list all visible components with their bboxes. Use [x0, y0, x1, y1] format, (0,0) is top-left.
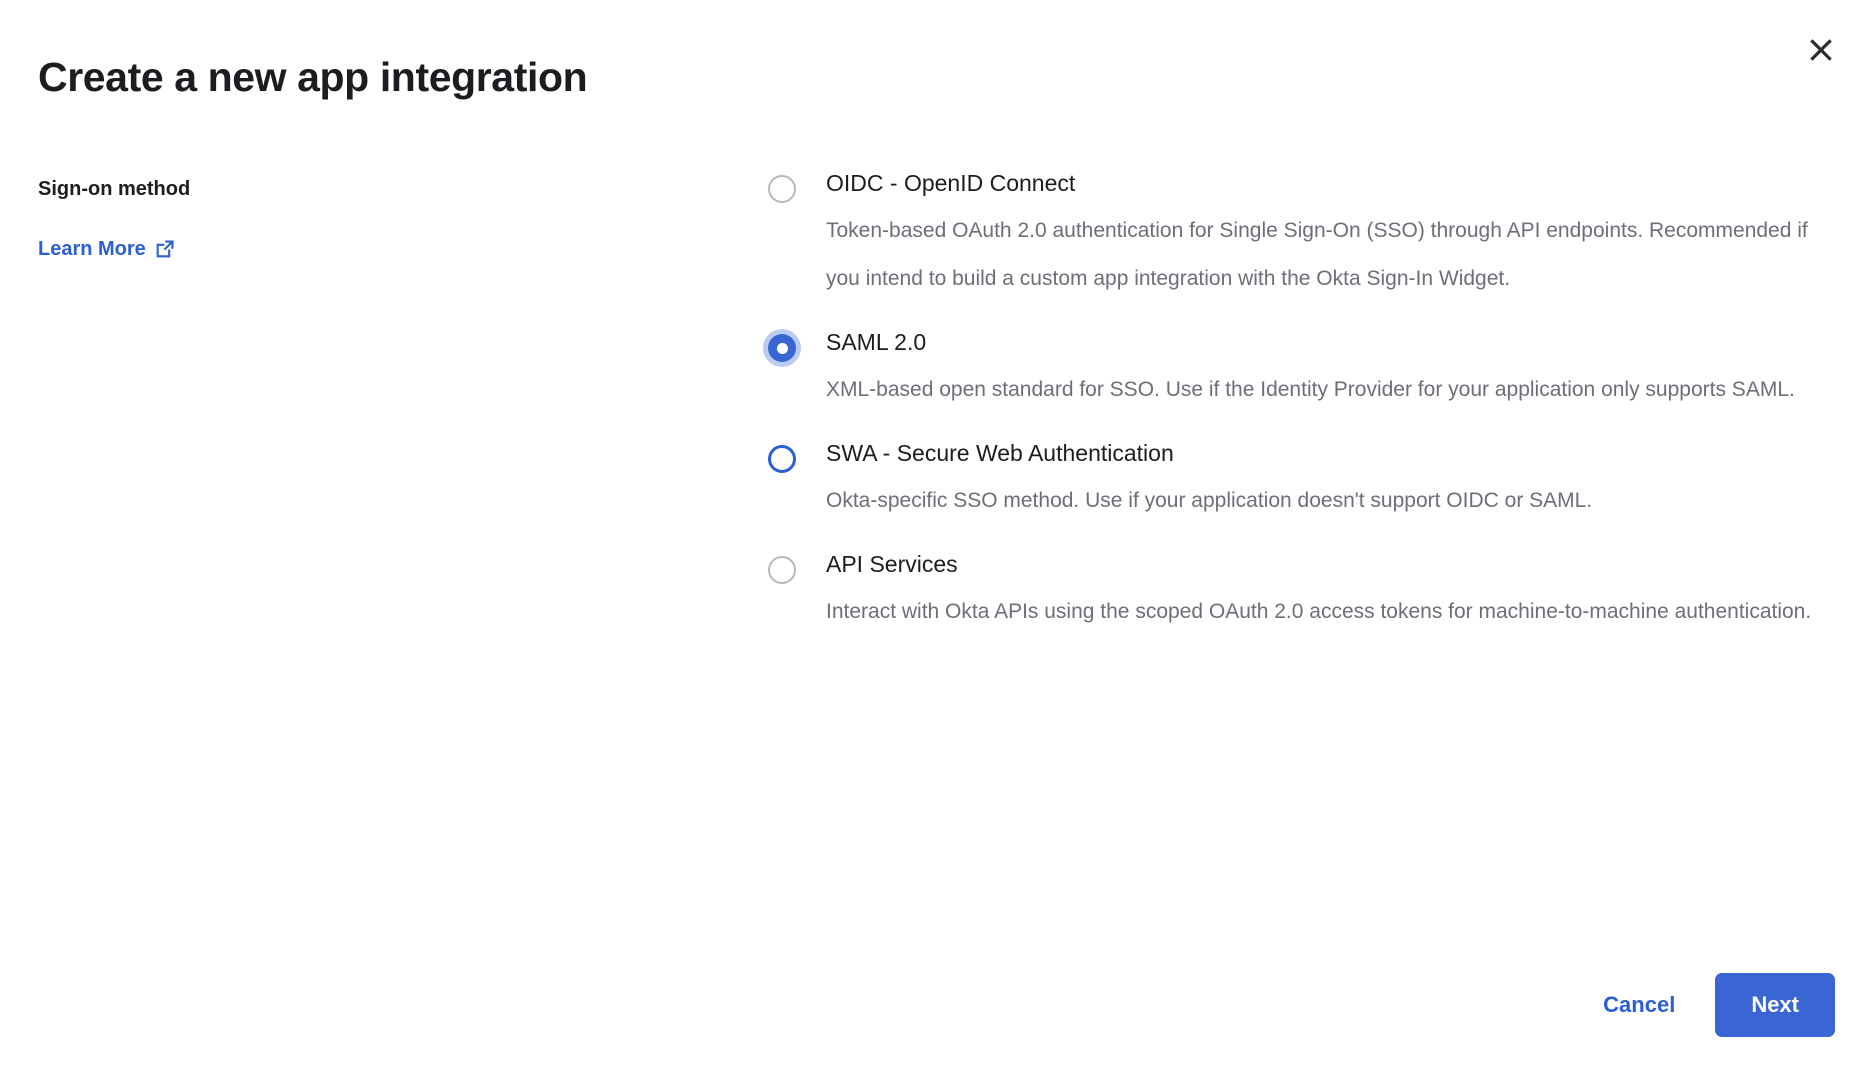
sign-on-method-label: Sign-on method [38, 175, 558, 203]
option-api-services-description: Interact with Okta APIs using the scoped… [826, 588, 1824, 636]
radio-saml[interactable] [768, 334, 796, 362]
radio-api-services[interactable] [768, 556, 796, 584]
option-swa[interactable]: SWA - Secure Web Authentication Okta-spe… [768, 438, 1824, 525]
cancel-button[interactable]: Cancel [1597, 979, 1681, 1031]
dialog-footer: Cancel Next [1597, 973, 1835, 1037]
option-oidc-label: OIDC - OpenID Connect [826, 168, 1824, 198]
close-icon [1806, 35, 1836, 65]
option-oidc-description: Token-based OAuth 2.0 authentication for… [826, 207, 1824, 303]
external-link-icon [155, 239, 175, 259]
create-app-integration-dialog: Create a new app integration Sign-on met… [0, 0, 1873, 1075]
option-swa-description: Okta-specific SSO method. Use if your ap… [826, 477, 1824, 525]
option-oidc[interactable]: OIDC - OpenID Connect Token-based OAuth … [768, 168, 1824, 303]
option-api-services[interactable]: API Services Interact with Okta APIs usi… [768, 549, 1824, 636]
learn-more-label: Learn More [38, 236, 146, 262]
radio-oidc[interactable] [768, 175, 796, 203]
learn-more-link[interactable]: Learn More [38, 236, 175, 262]
sign-on-method-radio-group: OIDC - OpenID Connect Token-based OAuth … [768, 168, 1824, 636]
close-dialog-button[interactable] [1795, 24, 1847, 76]
option-saml-label: SAML 2.0 [826, 327, 1824, 357]
sign-on-method-section: Sign-on method Learn More [38, 175, 558, 262]
option-saml-description: XML-based open standard for SSO. Use if … [826, 366, 1824, 414]
option-api-services-label: API Services [826, 549, 1824, 579]
radio-swa[interactable] [768, 445, 796, 473]
option-swa-label: SWA - Secure Web Authentication [826, 438, 1824, 468]
page-title: Create a new app integration [38, 52, 587, 102]
next-button[interactable]: Next [1715, 973, 1835, 1037]
option-saml[interactable]: SAML 2.0 XML-based open standard for SSO… [768, 327, 1824, 414]
